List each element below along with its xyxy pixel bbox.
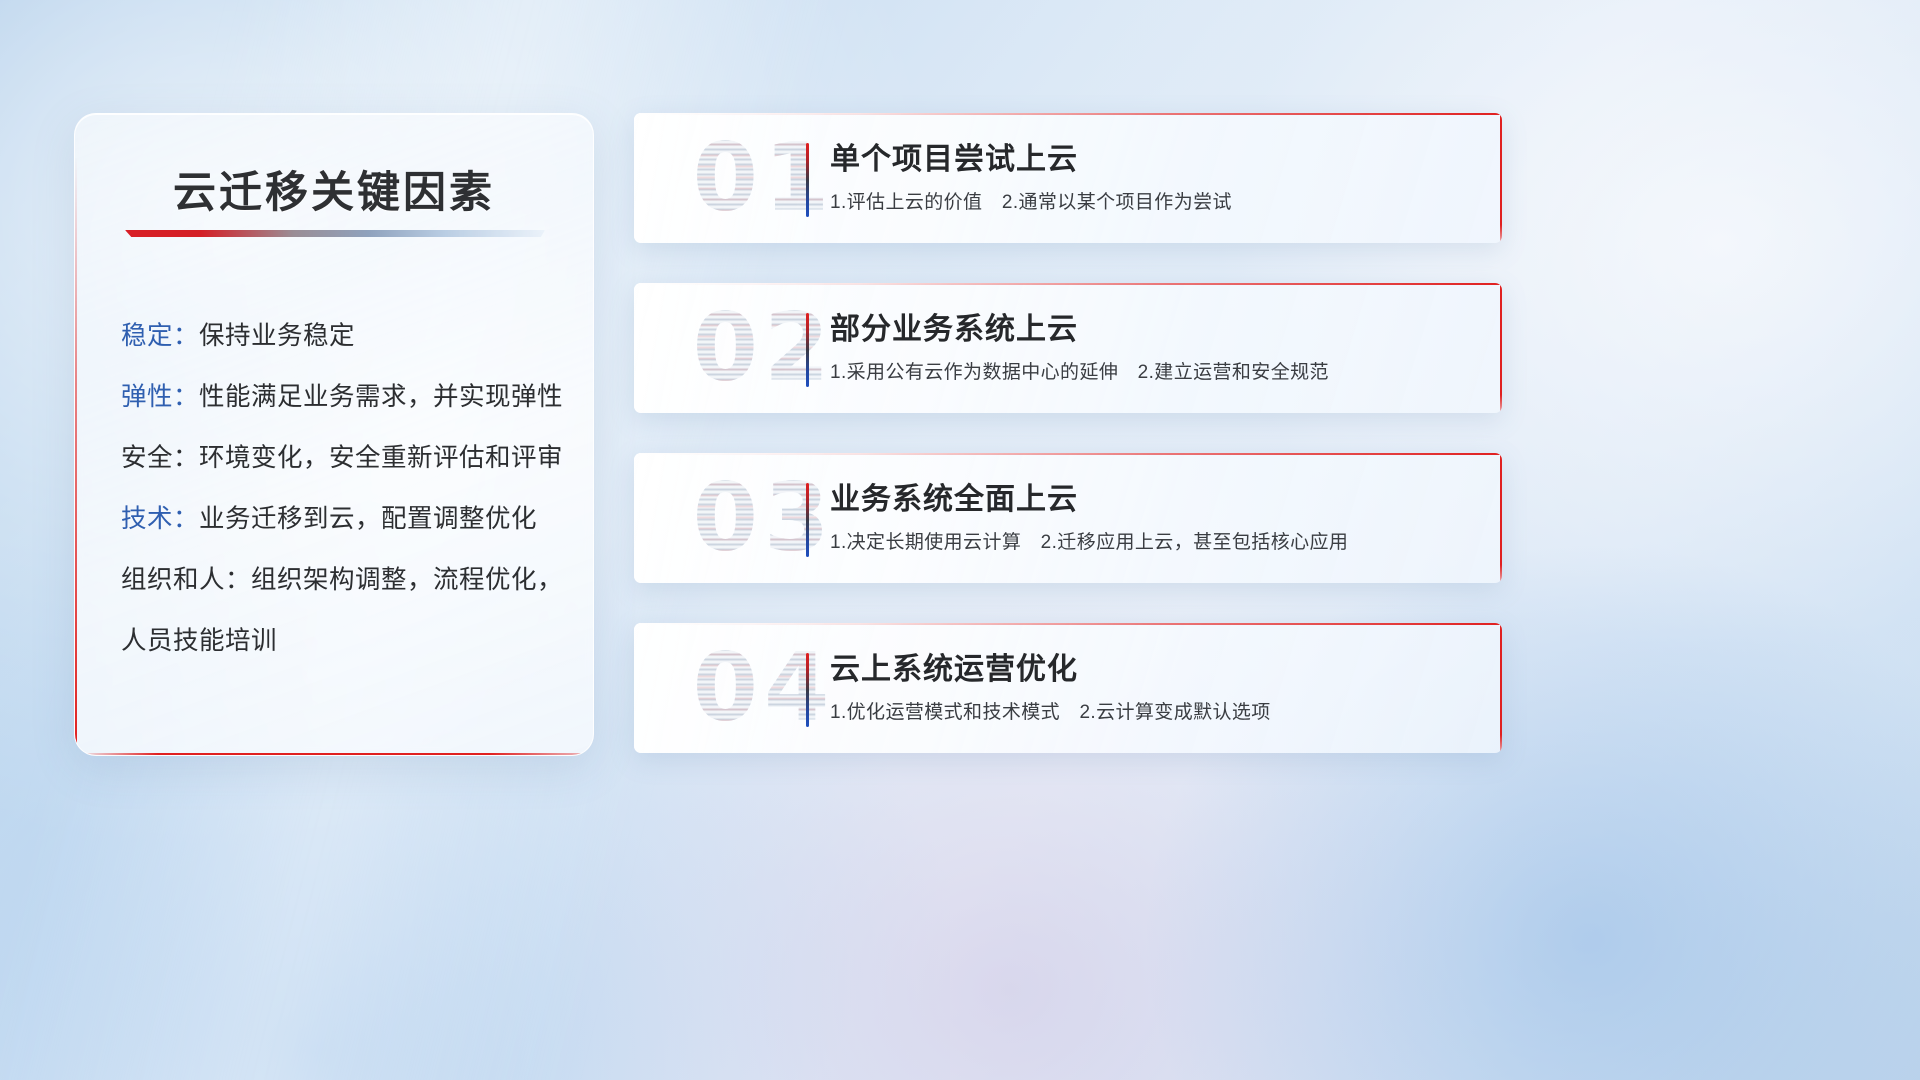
- page-title: 云迁移关键因素: [75, 158, 593, 220]
- step-divider-accent: [806, 143, 809, 217]
- step-divider-accent: [806, 313, 809, 387]
- list-item: 安全：环境变化，安全重新评估和评审: [121, 428, 563, 489]
- step-card[interactable]: 02 02 部分业务系统上云 1.采用公有云作为数据中心的延伸 2.建立运营和安…: [634, 283, 1502, 413]
- list-item: 组织和人：组织架构调整，流程优化，: [121, 550, 563, 611]
- step-body: 业务系统全面上云 1.决定长期使用云计算 2.迁移应用上云，甚至包括核心应用: [830, 479, 1472, 557]
- step-title: 云上系统运营优化: [830, 649, 1472, 691]
- list-item: 弹性：性能满足业务需求，并实现弹性: [121, 367, 563, 428]
- step-title: 部分业务系统上云: [830, 309, 1472, 351]
- list-item: 技术：业务迁移到云，配置调整优化: [121, 489, 563, 550]
- step-subtitle: 1.采用公有云作为数据中心的延伸 2.建立运营和安全规范: [830, 359, 1472, 387]
- list-item: 人员技能培训: [121, 611, 563, 672]
- step-divider-accent: [806, 653, 809, 727]
- factor-text: 业务迁移到云，配置调整优化: [199, 505, 537, 533]
- step-body: 部分业务系统上云 1.采用公有云作为数据中心的延伸 2.建立运营和安全规范: [830, 309, 1472, 387]
- factor-label: 弹性：: [121, 383, 199, 411]
- factor-label: 安全：: [121, 444, 199, 472]
- factor-label: 组织和人：: [121, 566, 251, 594]
- key-factors-list: 稳定：保持业务稳定 弹性：性能满足业务需求，并实现弹性 安全：环境变化，安全重新…: [121, 306, 563, 672]
- step-subtitle: 1.评估上云的价值 2.通常以某个项目作为尝试: [830, 189, 1472, 217]
- step-body: 单个项目尝试上云 1.评估上云的价值 2.通常以某个项目作为尝试: [830, 139, 1472, 217]
- title-underline-accent: [125, 230, 545, 237]
- step-subtitle: 1.决定长期使用云计算 2.迁移应用上云，甚至包括核心应用: [830, 529, 1472, 557]
- step-card[interactable]: 01 01 单个项目尝试上云 1.评估上云的价值 2.通常以某个项目作为尝试: [634, 113, 1502, 243]
- step-subtitle: 1.优化运营模式和技术模式 2.云计算变成默认选项: [830, 699, 1472, 727]
- step-card[interactable]: 03 03 业务系统全面上云 1.决定长期使用云计算 2.迁移应用上云，甚至包括…: [634, 453, 1502, 583]
- factor-text: 性能满足业务需求，并实现弹性: [199, 383, 563, 411]
- factor-label: 技术：: [121, 505, 199, 533]
- step-divider-accent: [806, 483, 809, 557]
- factor-text: 组织架构调整，流程优化，: [251, 566, 563, 594]
- list-item: 稳定：保持业务稳定: [121, 306, 563, 367]
- factor-label: 稳定：: [121, 322, 199, 350]
- step-card[interactable]: 04 04 云上系统运营优化 1.优化运营模式和技术模式 2.云计算变成默认选项: [634, 623, 1502, 753]
- factor-text: 保持业务稳定: [199, 322, 355, 350]
- step-body: 云上系统运营优化 1.优化运营模式和技术模式 2.云计算变成默认选项: [830, 649, 1472, 727]
- migration-steps-list: 01 01 单个项目尝试上云 1.评估上云的价值 2.通常以某个项目作为尝试 0…: [634, 113, 1502, 793]
- key-factors-panel: 云迁移关键因素 稳定：保持业务稳定 弹性：性能满足业务需求，并实现弹性 安全：环…: [74, 113, 594, 756]
- step-title: 单个项目尝试上云: [830, 139, 1472, 181]
- factor-text: 环境变化，安全重新评估和评审: [199, 444, 563, 472]
- step-title: 业务系统全面上云: [830, 479, 1472, 521]
- factor-text: 人员技能培训: [121, 627, 277, 655]
